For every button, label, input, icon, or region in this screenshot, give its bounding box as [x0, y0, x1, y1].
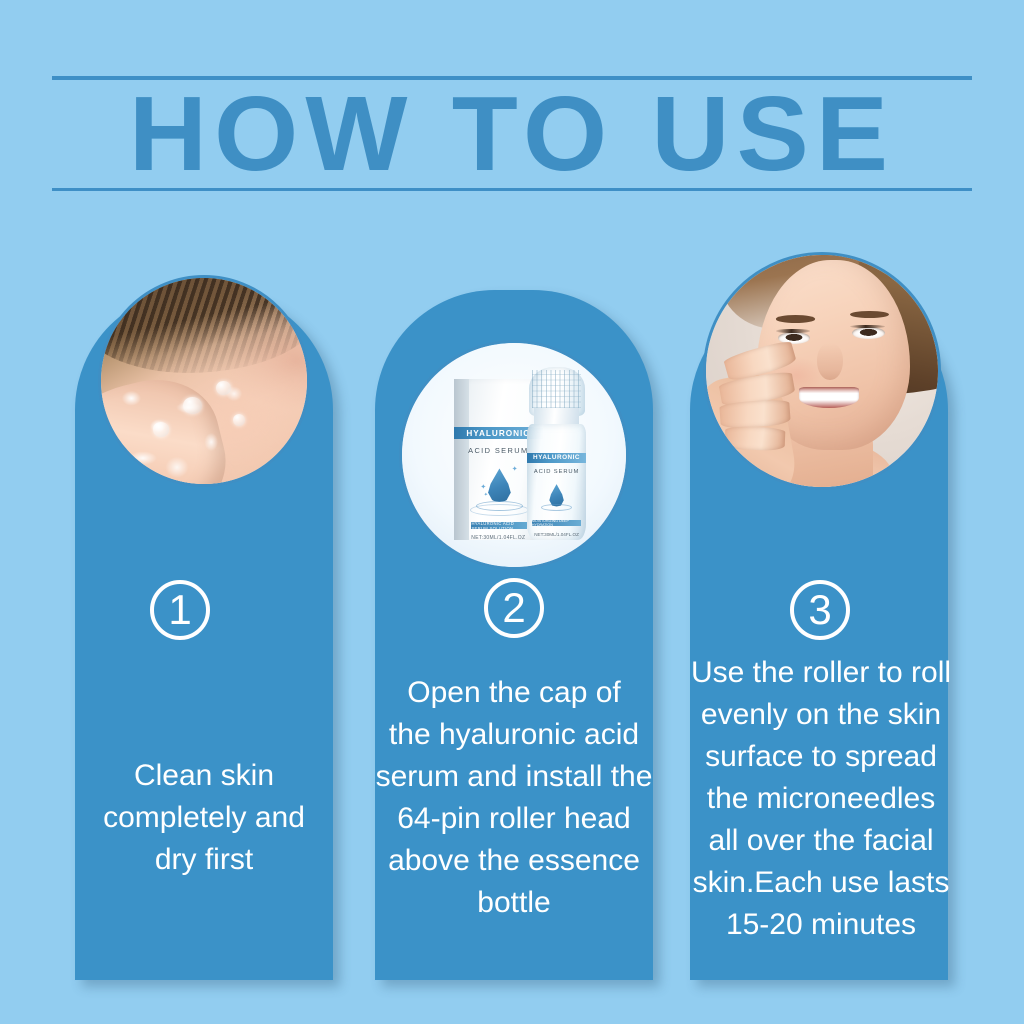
title-divider-bottom [52, 188, 972, 191]
eyebrow [776, 315, 815, 322]
page-title: HOW TO USE [0, 82, 1024, 186]
bottle-product-text: ACID SERUM [527, 466, 585, 477]
eyelash [776, 329, 811, 333]
step-caption-1: Clean skin completely and dry first [69, 755, 339, 881]
bottle-brand-text: HYALURONIC [527, 453, 585, 462]
step-badge-3: 3 [790, 580, 850, 640]
carton-net-content: NET:30ML/1.04FL.OZ [460, 535, 536, 542]
water-droplet [183, 397, 202, 413]
sparkle-icon: ✦ [484, 493, 488, 498]
smiling-mouth [799, 387, 859, 408]
step-badge-2: 2 [484, 578, 544, 638]
finger [724, 426, 785, 451]
water-droplet [216, 381, 230, 395]
nose [817, 343, 843, 380]
carton-tagline: HYALURONIC ACID SERUM SOLUTION [471, 522, 527, 529]
microneedles [532, 370, 581, 408]
photo-washing-face [98, 275, 310, 487]
photo-product-box-and-bottle: HYALURONIC ACID SERUM ✦ ✦ ✦ HYALURONIC A… [399, 340, 629, 570]
sparkle-icon: ✦ [480, 484, 486, 491]
eyebrow [850, 311, 889, 318]
product-carton-side-panel [454, 379, 470, 540]
step-badge-1: 1 [150, 580, 210, 640]
water-splash [101, 373, 291, 487]
sparkle-icon: ✦ [512, 466, 518, 473]
header: HOW TO USE [0, 0, 1024, 210]
photo-woman-touching-cheek [703, 252, 941, 490]
bottle-net-content: NET:30ML/1.04FL.OZ [530, 531, 584, 538]
bottle-tagline: MOISTURIZING DEEP HYDRATION [532, 520, 581, 526]
steps-container: 1 Clean skin completely and dry first HY… [0, 232, 1024, 932]
step-caption-2: Open the cap of the hyaluronic acid seru… [373, 672, 655, 924]
water-droplet [153, 422, 169, 436]
step-caption-3: Use the roller to roll evenly on the ski… [682, 652, 960, 946]
eye [852, 327, 884, 339]
